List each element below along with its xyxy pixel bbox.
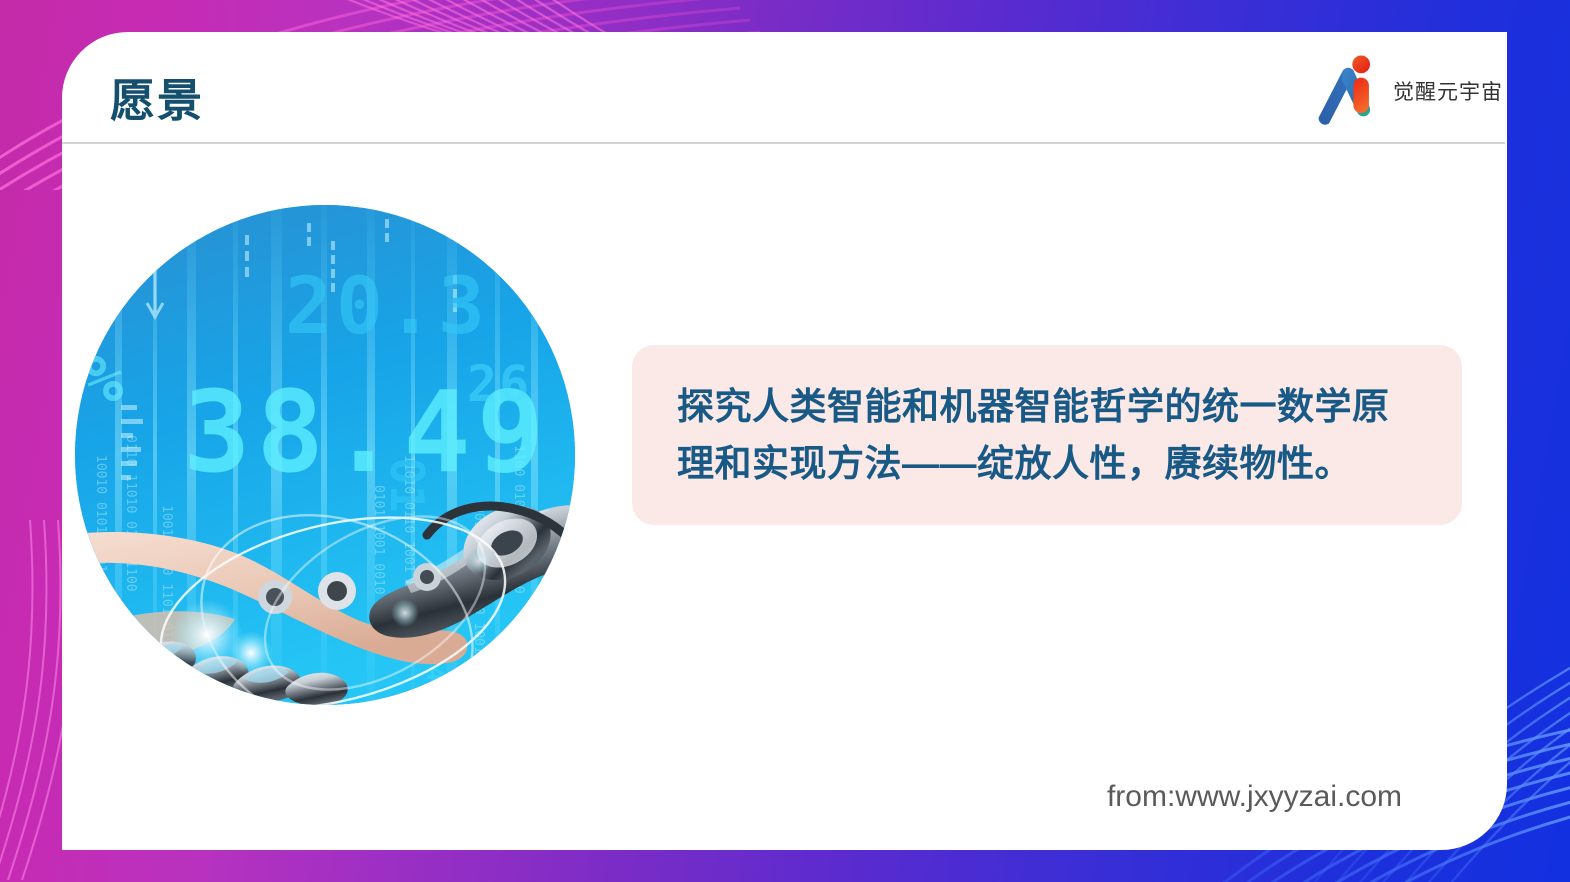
ai-logo-icon — [1309, 54, 1383, 128]
hero-image-circle: 10010 0101 1001 0010 0110 11010 0101 110… — [75, 205, 575, 705]
vision-statement-box: 探究人类智能和机器智能哲学的统一数学原理和实现方法——绽放人性，赓续物性。 — [632, 345, 1462, 525]
title-divider — [62, 142, 1505, 144]
page-title: 愿景 — [110, 78, 204, 123]
source-attribution: from:www.jxyyzai.com — [1107, 780, 1402, 814]
svg-text:01: 01 — [380, 457, 434, 512]
svg-text:%: % — [85, 343, 124, 417]
hero-illustration: 10010 0101 1001 0010 0110 11010 0101 110… — [75, 205, 575, 705]
slide-root: 愿景 — [0, 0, 1570, 882]
brand-name: 觉醒元宇宙 — [1393, 76, 1503, 106]
vision-statement-text: 探究人类智能和机器智能哲学的统一数学原理和实现方法——绽放人性，赓续物性。 — [677, 378, 1417, 493]
slide-card: 愿景 — [62, 32, 1507, 850]
brand-logo: 觉醒元宇宙 — [1309, 54, 1503, 128]
svg-text:20.3: 20.3 — [285, 262, 489, 352]
svg-text:0110 11010 0101 1100: 0110 11010 0101 1100 — [123, 435, 138, 592]
svg-text:26: 26 — [467, 355, 531, 413]
